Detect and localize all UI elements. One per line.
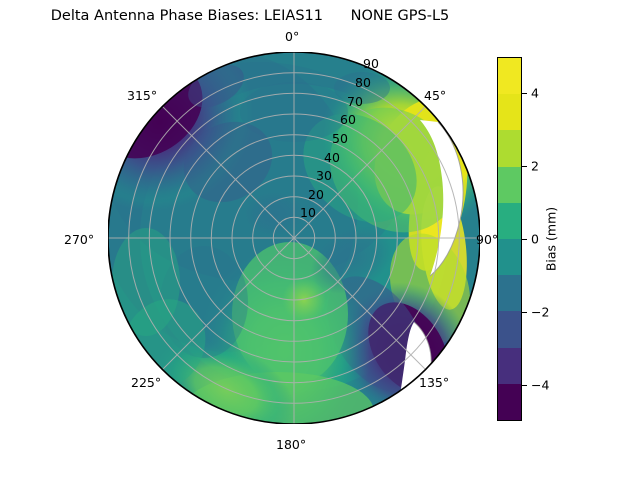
colorbar-band-0: [498, 58, 521, 94]
colorbar-band-8: [498, 348, 521, 384]
azimuth-label-270: 270°: [64, 232, 94, 247]
polar-contour-svg: [108, 52, 480, 424]
radial-label-70: 70: [347, 94, 363, 109]
radial-label-50: 50: [332, 131, 348, 146]
colorbar-band-7: [498, 311, 521, 347]
colorbar-ticklabel-n2: −2: [531, 304, 549, 319]
azimuth-label-45: 45°: [424, 88, 446, 103]
page-title: Delta Antenna Phase Biases: LEIAS11 NONE…: [0, 8, 500, 24]
colorbar-band-6: [498, 275, 521, 311]
azimuth-label-135: 135°: [419, 375, 449, 390]
colorbar-icon: [497, 57, 522, 421]
figure-canvas: Delta Antenna Phase Biases: LEIAS11 NONE…: [0, 0, 640, 480]
colorbar-band-2: [498, 130, 521, 166]
colorbar-tick-0: [522, 239, 527, 240]
colorbar-band-4: [498, 203, 521, 239]
radial-label-90: 90: [363, 56, 379, 71]
radial-label-80: 80: [355, 75, 371, 90]
colorbar-ticklabel-2: 2: [531, 159, 539, 174]
colorbar-band-1: [498, 94, 521, 130]
colorbar-band-5: [498, 239, 521, 275]
colorbar-tick-n4: [522, 385, 527, 386]
azimuth-label-90: 90°: [476, 232, 498, 247]
colorbar[interactable]: 4 2 0 −2 −4: [497, 57, 522, 421]
radial-label-60: 60: [340, 112, 356, 127]
polar-plot[interactable]: [108, 52, 480, 424]
radial-label-20: 20: [308, 187, 324, 202]
azimuth-label-0: 0°: [285, 29, 299, 44]
azimuth-label-180: 180°: [276, 437, 306, 452]
azimuth-label-225: 225°: [131, 375, 161, 390]
radial-label-40: 40: [324, 150, 340, 165]
colorbar-band-9: [498, 384, 521, 420]
radial-label-30: 30: [316, 168, 332, 183]
colorbar-band-3: [498, 167, 521, 203]
polar-grid-icon: [108, 52, 480, 424]
radial-label-10: 10: [300, 205, 316, 220]
colorbar-tick-2: [522, 166, 527, 167]
colorbar-tick-n2: [522, 312, 527, 313]
azimuth-label-315: 315°: [127, 88, 157, 103]
colorbar-ticklabel-0: 0: [531, 232, 539, 247]
colorbar-ticklabel-4: 4: [531, 86, 539, 101]
colorbar-ticklabel-n4: −4: [531, 377, 549, 392]
colorbar-axis-label: Bias (mm): [544, 207, 559, 271]
colorbar-tick-4: [522, 93, 527, 94]
